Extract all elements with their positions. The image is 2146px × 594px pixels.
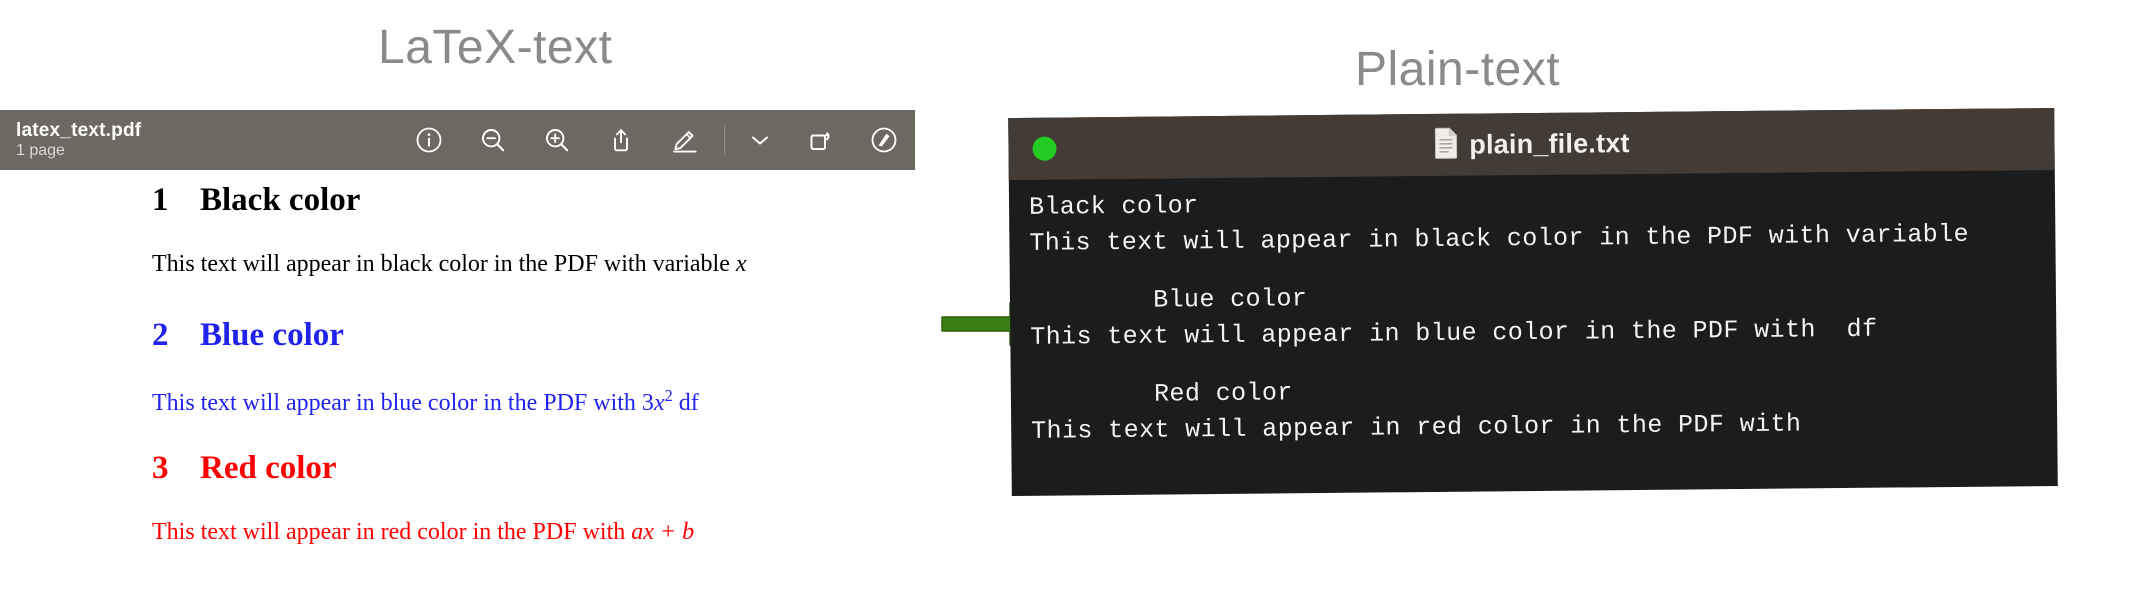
latex-section-number: 3: [152, 450, 200, 487]
text-editor-titlebar: plain_file.txt: [1008, 108, 2055, 180]
latex-section-number: 2: [152, 317, 200, 354]
toolbar-separator: [724, 125, 725, 155]
info-icon[interactable]: [412, 123, 446, 157]
share-icon[interactable]: [604, 123, 638, 157]
latex-section-title: Blue color: [200, 317, 344, 353]
latex-section-title: Black color: [200, 182, 360, 218]
annotate-icon[interactable]: [867, 123, 901, 157]
text-editor-content[interactable]: Black color This text will appear in bla…: [1009, 170, 2058, 464]
latex-body-black: This text will appear in black color in …: [152, 251, 915, 278]
text-editor-window: plain_file.txt Black color This text wil…: [1008, 108, 2058, 496]
panel-heading-latex: LaTeX-text: [378, 20, 612, 75]
markup-pen-icon[interactable]: [668, 123, 702, 157]
latex-body-suffix: df: [673, 390, 699, 416]
pdf-page-content: 1Black color This text will appear in bl…: [0, 182, 915, 594]
latex-heading-red: 3Red color: [152, 450, 915, 487]
latex-section-title: Red color: [200, 450, 337, 486]
latex-heading-black: 1Black color: [152, 182, 915, 219]
latex-math-variable: x: [654, 390, 665, 416]
latex-body-red: This text will appear in red color in th…: [152, 519, 915, 546]
pdf-page-count: 1 page: [16, 142, 141, 160]
text-editor-title-group: plain_file.txt: [1008, 120, 2054, 167]
latex-section-blue: 2Blue color This text will appear in blu…: [0, 317, 915, 417]
traffic-light-green[interactable]: [1032, 137, 1056, 161]
latex-body-text: This text will appear in black color in …: [152, 251, 736, 277]
latex-section-number: 1: [152, 182, 200, 219]
latex-body-text: This text will appear in blue color in t…: [152, 390, 654, 416]
pdf-file-info: latex_text.pdf 1 page: [16, 120, 141, 160]
rotate-icon[interactable]: [803, 123, 837, 157]
latex-body-blue: This text will appear in blue color in t…: [152, 386, 915, 417]
text-editor-filename: plain_file.txt: [1469, 128, 1630, 161]
latex-math-expression: ax + b: [631, 519, 694, 545]
zoom-out-icon[interactable]: [476, 123, 510, 157]
latex-section-black: 1Black color This text will appear in bl…: [0, 182, 915, 278]
pdf-toolbar: latex_text.pdf 1 page: [0, 110, 915, 170]
zoom-in-icon[interactable]: [540, 123, 574, 157]
latex-math-variable: x: [736, 251, 747, 277]
latex-section-red: 3Red color This text will appear in red …: [0, 450, 915, 546]
panel-heading-plain: Plain-text: [1355, 42, 1560, 97]
document-icon: [1433, 126, 1459, 163]
pdf-toolbar-icons: [412, 123, 901, 157]
pdf-filename: latex_text.pdf: [16, 120, 141, 141]
chevron-down-icon[interactable]: [747, 123, 773, 157]
latex-heading-blue: 2Blue color: [152, 317, 915, 354]
latex-body-text: This text will appear in red color in th…: [152, 519, 631, 545]
pdf-viewer-window: latex_text.pdf 1 page: [0, 110, 915, 182]
latex-math-exponent: 2: [665, 386, 673, 405]
